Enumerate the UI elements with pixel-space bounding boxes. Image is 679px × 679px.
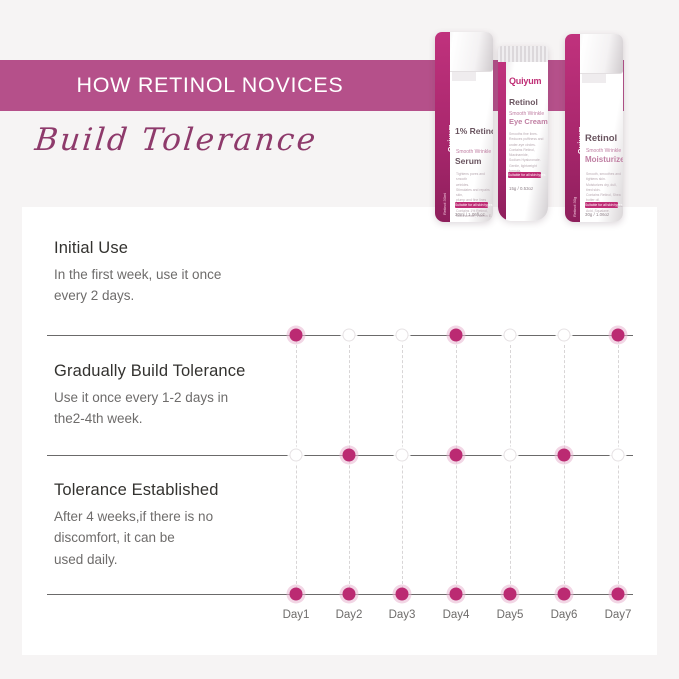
axis-label-day6: Day6 bbox=[551, 609, 578, 621]
grid-line-day1 bbox=[296, 335, 297, 594]
product-image-group: Quiyum Retinol 30ml 1% Retinol Smooth Wr… bbox=[425, 12, 640, 224]
section-tolerance-established: Tolerance Established After 4 weeks,if t… bbox=[54, 481, 354, 570]
axis-label-day5: Day5 bbox=[497, 609, 524, 621]
serum-side-text: Retinol 30ml bbox=[442, 193, 447, 215]
infographic-canvas: HOW RETINOL NOVICES Build Tolerance Quiy… bbox=[0, 0, 679, 679]
bottle-neck bbox=[452, 72, 475, 81]
grid-line-day4 bbox=[456, 335, 457, 594]
brand-logo-moisturizer: Quiyum bbox=[578, 126, 585, 154]
timeline-dot-empty bbox=[558, 329, 571, 342]
timeline-dot-filled bbox=[343, 588, 356, 601]
timeline-dot-filled bbox=[450, 588, 463, 601]
brand-logo-eye-cream: Quiyum bbox=[509, 76, 541, 86]
grid-line-day2 bbox=[349, 335, 350, 594]
timeline-row-initial-use bbox=[47, 335, 633, 336]
page-title: HOW RETINOL NOVICES bbox=[0, 60, 420, 111]
axis-label-day4: Day4 bbox=[443, 609, 470, 621]
section-tolerance-established-title: Tolerance Established bbox=[54, 481, 354, 500]
timeline-dot-empty bbox=[396, 329, 409, 342]
timeline-dot-filled bbox=[343, 449, 356, 462]
product-moisturizer-bottle: Quiyum Retinol 30g Retinol Smooth Wrinkl… bbox=[565, 34, 623, 222]
moisturizer-subtitle: Smooth Wrinkle bbox=[586, 148, 621, 154]
eye-cream-volume: 15g / 0.53oz bbox=[509, 186, 533, 191]
bottle-neck bbox=[582, 74, 605, 83]
timeline-dot-empty bbox=[504, 329, 517, 342]
section-gradually-build-tolerance: Gradually Build Tolerance Use it once ev… bbox=[54, 362, 354, 430]
label-stripe bbox=[498, 62, 506, 221]
serum-badge: Suitable for all skin types bbox=[455, 202, 488, 208]
moisturizer-volume: 30g / 1.06oz bbox=[585, 212, 609, 217]
timeline-row-tolerance-established bbox=[47, 594, 633, 595]
timeline-dot-filled bbox=[290, 588, 303, 601]
timeline-dot-filled bbox=[558, 449, 571, 462]
timeline-dot-filled bbox=[612, 588, 625, 601]
timeline-dot-empty bbox=[396, 449, 409, 462]
timeline-dot-empty bbox=[504, 449, 517, 462]
timeline-dot-filled bbox=[504, 588, 517, 601]
axis-label-day7: Day7 bbox=[605, 609, 632, 621]
timeline-dot-empty bbox=[612, 449, 625, 462]
timeline-dot-filled bbox=[612, 329, 625, 342]
tube-crimp bbox=[498, 46, 548, 62]
timeline-dot-filled bbox=[558, 588, 571, 601]
eye-cream-title: Retinol bbox=[509, 98, 538, 107]
grid-line-day3 bbox=[402, 335, 403, 594]
serum-volume: 30ml / 1.06fl.oz bbox=[455, 212, 485, 217]
timeline-dot-filled bbox=[450, 449, 463, 462]
section-initial-use-body: In the first week, use it once every 2 d… bbox=[54, 264, 354, 307]
timeline-dot-empty bbox=[290, 449, 303, 462]
timeline-dot-filled bbox=[450, 329, 463, 342]
eye-cream-description: Smooths fine lines. Reduces puffiness an… bbox=[509, 132, 548, 174]
axis-label-day3: Day3 bbox=[389, 609, 416, 621]
section-gradually-build-tolerance-title: Gradually Build Tolerance bbox=[54, 362, 354, 381]
timeline-row-gradually-build-tolerance bbox=[47, 455, 633, 456]
script-subtitle: Build Tolerance bbox=[31, 122, 437, 178]
moisturizer-kind: Moisturizer bbox=[585, 156, 623, 165]
section-tolerance-established-body: After 4 weeks,if there is no discomfort,… bbox=[54, 506, 354, 570]
brand-logo-serum: Quiyum bbox=[448, 124, 455, 152]
grid-line-day7 bbox=[618, 335, 619, 594]
grid-line-day5 bbox=[510, 335, 511, 594]
serum-title: 1% Retinol bbox=[455, 127, 493, 136]
timeline-dot-filled bbox=[290, 329, 303, 342]
timeline-dot-empty bbox=[343, 329, 356, 342]
section-initial-use-title: Initial Use bbox=[54, 239, 354, 258]
eye-cream-badge: Suitable for all skin types bbox=[508, 172, 541, 178]
moisturizer-side-text: Retinol 30g bbox=[572, 197, 577, 217]
product-eye-cream-tube: Quiyum Retinol Smooth Wrinkle Eye Cream … bbox=[498, 46, 548, 221]
axis-label-day2: Day2 bbox=[336, 609, 363, 621]
timeline-dot-filled bbox=[396, 588, 409, 601]
eye-cream-kind: Eye Cream bbox=[509, 118, 548, 126]
moisturizer-title: Retinol bbox=[585, 134, 617, 144]
section-initial-use: Initial Use In the first week, use it on… bbox=[54, 239, 354, 307]
section-gradually-build-tolerance-body: Use it once every 1-2 days in the2-4th w… bbox=[54, 387, 354, 430]
moisturizer-badge: Suitable for all skin types bbox=[585, 202, 618, 208]
serum-subtitle: Smooth Wrinkle bbox=[456, 149, 491, 155]
serum-kind: Serum bbox=[455, 157, 481, 166]
axis-label-day1: Day1 bbox=[283, 609, 310, 621]
grid-line-day6 bbox=[564, 335, 565, 594]
product-serum-bottle: Quiyum Retinol 30ml 1% Retinol Smooth Wr… bbox=[435, 32, 493, 222]
